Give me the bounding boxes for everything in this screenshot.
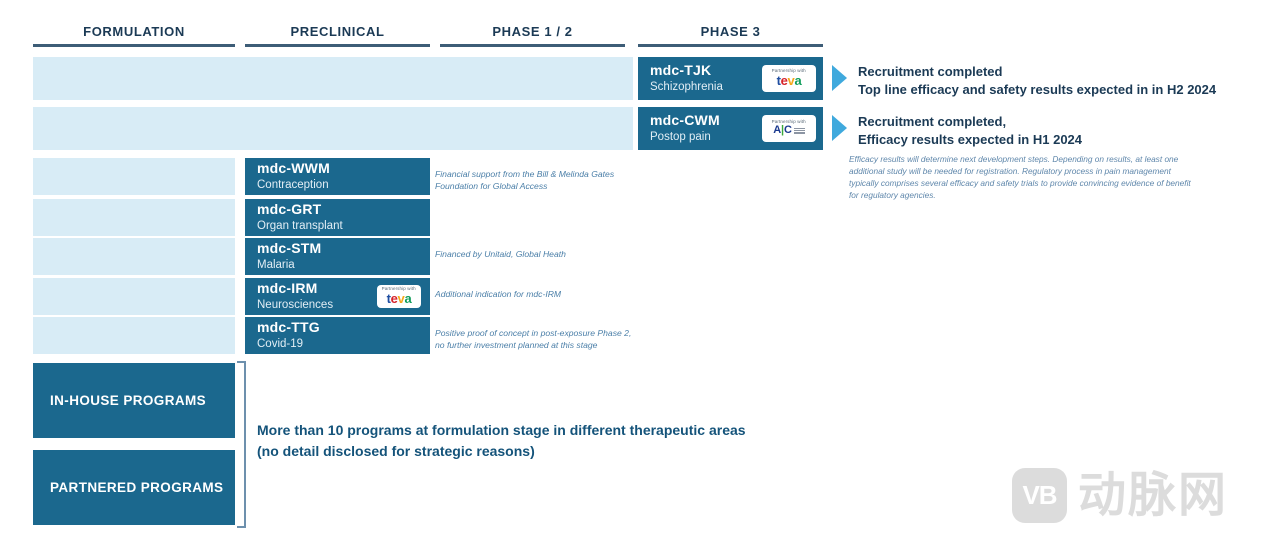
callout-arrow-1 xyxy=(832,65,847,91)
phase3-program-indication-2: Postop pain xyxy=(650,130,720,145)
formulation-bar-5 xyxy=(33,238,235,275)
formulation-bar-6 xyxy=(33,278,235,315)
preclinical-program-box-5[interactable]: mdc-TTGCovid-19 xyxy=(245,317,430,354)
preclinical-program-code-1: mdc-WWM xyxy=(257,160,330,178)
watermark-badge-icon: VB xyxy=(1012,468,1067,523)
preclinical-program-code-2: mdc-GRT xyxy=(257,201,343,219)
formulation-statement: More than 10 programs at formulation sta… xyxy=(257,420,746,463)
category-box-1[interactable]: IN-HOUSE PROGRAMS xyxy=(33,363,235,438)
callout-arrow-2 xyxy=(832,115,847,141)
statement-line-1: More than 10 programs at formulation sta… xyxy=(257,420,746,441)
preclinical-program-text-2: mdc-GRTOrgan transplant xyxy=(257,201,343,233)
formulation-bar-2 xyxy=(33,107,633,150)
preclinical-program-code-3: mdc-STM xyxy=(257,240,321,258)
column-header-4: PHASE 3 xyxy=(638,24,823,39)
category-box-2[interactable]: PARTNERED PROGRAMS xyxy=(33,450,235,525)
preclinical-program-text-5: mdc-TTGCovid-19 xyxy=(257,319,320,351)
phase3-fineprint: Efficacy results will determine next dev… xyxy=(849,153,1201,201)
watermark-text: 动脉网 xyxy=(1078,472,1228,520)
formulation-bar-3 xyxy=(33,158,235,195)
partner-logo-ac: Partnership withA|C xyxy=(762,115,816,142)
preclinical-program-box-3[interactable]: mdc-STMMalaria xyxy=(245,238,430,275)
preclinical-note-4: Additional indication for mdc-IRM xyxy=(435,288,561,300)
phase3-program-indication-1: Schizophrenia xyxy=(650,80,723,95)
preclinical-note-5: Positive proof of concept in post-exposu… xyxy=(435,327,631,351)
partner-logo-teva: Partnership withteva xyxy=(377,285,421,308)
pipeline-chart: FORMULATIONPRECLINICALPHASE 1 / 2PHASE 3… xyxy=(0,0,1269,549)
phase3-program-code-1: mdc-TJK xyxy=(650,62,723,80)
column-rule-3 xyxy=(440,44,625,47)
phase3-program-text-1: mdc-TJKSchizophrenia xyxy=(650,62,723,94)
column-header-1: FORMULATION xyxy=(33,24,235,39)
callout-line-1: Recruitment completed, xyxy=(858,113,1082,131)
preclinical-program-indication-2: Organ transplant xyxy=(257,219,343,234)
teva-wordmark: teva xyxy=(387,292,412,305)
column-rule-4 xyxy=(638,44,823,47)
partner-logo-teva: Partnership withteva xyxy=(762,65,816,92)
phase3-callout-1: Recruitment completedTop line efficacy a… xyxy=(858,63,1216,99)
preclinical-program-text-3: mdc-STMMalaria xyxy=(257,240,321,272)
formulation-bar-1 xyxy=(33,57,633,100)
statement-line-2: (no detail disclosed for strategic reaso… xyxy=(257,441,746,462)
preclinical-program-indication-5: Covid-19 xyxy=(257,337,320,352)
ac-wordmark: A|C xyxy=(773,125,804,136)
callout-line-2: Top line efficacy and safety results exp… xyxy=(858,81,1216,99)
preclinical-program-text-4: mdc-IRMNeurosciences xyxy=(257,280,333,312)
preclinical-program-indication-1: Contraception xyxy=(257,178,330,193)
preclinical-note-1: Financial support from the Bill & Melind… xyxy=(435,168,614,192)
category-bracket xyxy=(237,361,246,528)
column-rule-1 xyxy=(33,44,235,47)
column-rule-2 xyxy=(245,44,430,47)
formulation-bar-7 xyxy=(33,317,235,354)
column-header-2: PRECLINICAL xyxy=(245,24,430,39)
partner-prefix-label: Partnership with xyxy=(772,120,806,124)
column-header-3: PHASE 1 / 2 xyxy=(440,24,625,39)
preclinical-program-indication-4: Neurosciences xyxy=(257,298,333,313)
callout-line-2: Efficacy results expected in H1 2024 xyxy=(858,131,1082,149)
preclinical-program-code-5: mdc-TTG xyxy=(257,319,320,337)
preclinical-program-text-1: mdc-WWMContraception xyxy=(257,160,330,192)
teva-wordmark: teva xyxy=(777,74,802,87)
preclinical-program-code-4: mdc-IRM xyxy=(257,280,333,298)
formulation-bar-4 xyxy=(33,199,235,236)
phase3-callout-2: Recruitment completed,Efficacy results e… xyxy=(858,113,1082,149)
preclinical-program-box-1[interactable]: mdc-WWMContraception xyxy=(245,158,430,195)
preclinical-program-indication-3: Malaria xyxy=(257,258,321,273)
partner-prefix-label: Partnership with xyxy=(772,69,806,73)
preclinical-note-3: Financed by Unitaid, Global Heath xyxy=(435,248,566,260)
partner-prefix-label: Partnership with xyxy=(382,287,416,291)
callout-line-1: Recruitment completed xyxy=(858,63,1216,81)
watermark: VB 动脉网 xyxy=(1012,468,1228,523)
phase3-program-text-2: mdc-CWMPostop pain xyxy=(650,112,720,144)
phase3-program-code-2: mdc-CWM xyxy=(650,112,720,130)
preclinical-program-box-2[interactable]: mdc-GRTOrgan transplant xyxy=(245,199,430,236)
